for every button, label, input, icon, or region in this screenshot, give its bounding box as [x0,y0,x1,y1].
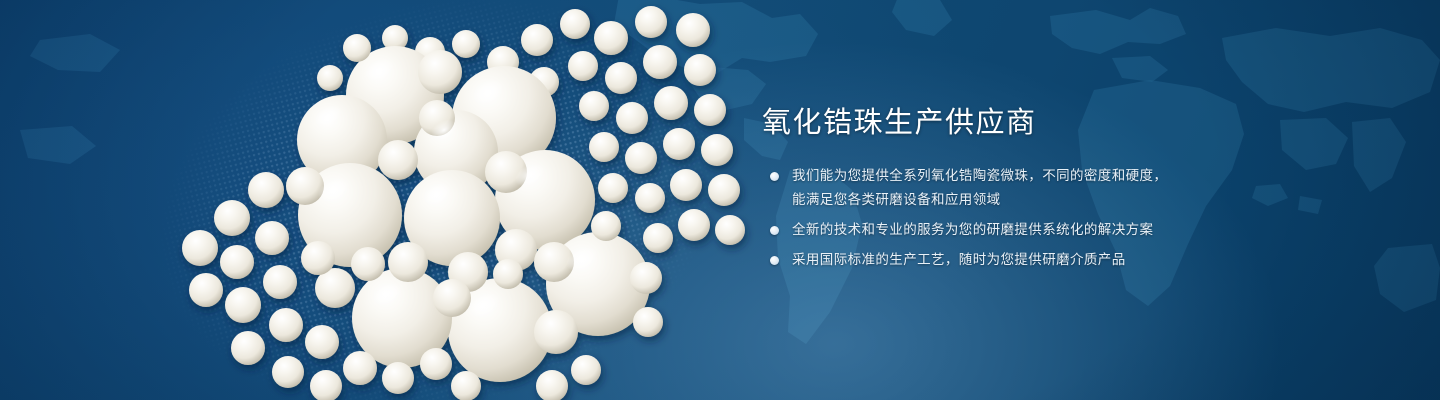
bullet-dot-icon [770,172,779,181]
list-item-line: 全新的技术和专业的服务为您的研磨提供系统化的解决方案 [792,218,1362,242]
bullet-dot-icon [770,256,779,265]
feature-list: 我们能为您提供全系列氧化锆陶瓷微珠，不同的密度和硬度， 能满足您各类研磨设备和应… [762,164,1362,272]
list-item: 采用国际标准的生产工艺，随时为您提供研磨介质产品 [762,248,1362,272]
list-item: 我们能为您提供全系列氧化锆陶瓷微珠，不同的密度和硬度， 能满足您各类研磨设备和应… [762,164,1362,212]
list-item-line: 我们能为您提供全系列氧化锆陶瓷微珠，不同的密度和硬度， [792,164,1362,188]
list-item: 全新的技术和专业的服务为您的研磨提供系统化的解决方案 [762,218,1362,242]
hero-banner: 氧化锆珠生产供应商 我们能为您提供全系列氧化锆陶瓷微珠，不同的密度和硬度， 能满… [0,0,1440,400]
bullet-dot-icon [770,226,779,235]
list-item-line: 采用国际标准的生产工艺，随时为您提供研磨介质产品 [792,248,1362,272]
zirconia-beads-image [0,0,760,400]
list-item-line: 能满足您各类研磨设备和应用领域 [792,188,1362,212]
banner-text-block: 氧化锆珠生产供应商 我们能为您提供全系列氧化锆陶瓷微珠，不同的密度和硬度， 能满… [762,104,1362,272]
page-title: 氧化锆珠生产供应商 [762,104,1362,142]
